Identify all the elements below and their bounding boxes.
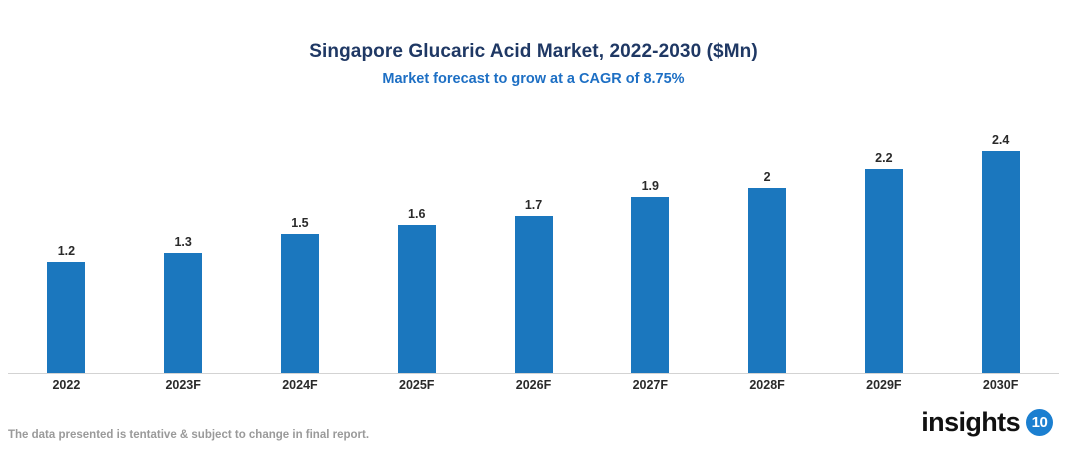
bar-group-2026F[interactable]: 1.7 bbox=[475, 110, 592, 373]
bar-rect[interactable] bbox=[982, 151, 1020, 373]
bar-group-2028F[interactable]: 2 bbox=[709, 110, 826, 373]
bar-value-label: 1.6 bbox=[408, 207, 425, 221]
x-axis-tick-label: 2024F bbox=[242, 377, 359, 393]
x-axis-tick-label: 2025F bbox=[358, 377, 475, 393]
title-block: Singapore Glucaric Acid Market, 2022-203… bbox=[0, 40, 1067, 89]
plot-area: 1.2 1.3 1.5 1.6 1.7 1.9 bbox=[8, 110, 1059, 374]
x-axis-tick-label: 2026F bbox=[475, 377, 592, 393]
x-axis-tick-label: 2022 bbox=[8, 377, 125, 393]
page-title: Singapore Glucaric Acid Market, 2022-203… bbox=[0, 40, 1067, 64]
page-subtitle: Market forecast to grow at a CAGR of 8.7… bbox=[0, 70, 1067, 89]
x-axis-tick-label: 2023F bbox=[125, 377, 242, 393]
x-axis-tick-label: 2027F bbox=[592, 377, 709, 393]
insights10-logo: insights 10 bbox=[921, 406, 1053, 438]
bar-group-2025F[interactable]: 1.6 bbox=[358, 110, 475, 373]
bar-group-2029F[interactable]: 2.2 bbox=[825, 110, 942, 373]
bar-rect[interactable] bbox=[748, 188, 786, 373]
bar-rect[interactable] bbox=[865, 169, 903, 373]
bar-series: 1.2 1.3 1.5 1.6 1.7 1.9 bbox=[8, 110, 1059, 373]
bar-rect[interactable] bbox=[515, 216, 553, 373]
x-axis-tick-label: 2029F bbox=[825, 377, 942, 393]
bar-rect[interactable] bbox=[164, 253, 202, 373]
bar-group-2022[interactable]: 1.2 bbox=[8, 110, 125, 373]
logo-wordmark: insights bbox=[921, 409, 1020, 436]
bar-value-label: 2 bbox=[764, 170, 771, 184]
bar-rect[interactable] bbox=[631, 197, 669, 373]
bar-group-2027F[interactable]: 1.9 bbox=[592, 110, 709, 373]
bar-value-label: 1.2 bbox=[58, 244, 75, 258]
chart-page: Singapore Glucaric Acid Market, 2022-203… bbox=[0, 0, 1067, 454]
bar-group-2023F[interactable]: 1.3 bbox=[125, 110, 242, 373]
bar-rect[interactable] bbox=[281, 234, 319, 373]
x-axis-tick-label: 2028F bbox=[709, 377, 826, 393]
disclaimer-text: The data presented is tentative & subjec… bbox=[8, 428, 369, 443]
bar-value-label: 2.4 bbox=[992, 133, 1009, 147]
bar-value-label: 1.7 bbox=[525, 198, 542, 212]
x-axis-line bbox=[8, 373, 1059, 374]
bar-rect[interactable] bbox=[47, 262, 85, 373]
bar-group-2024F[interactable]: 1.5 bbox=[242, 110, 359, 373]
logo-badge-icon: 10 bbox=[1026, 409, 1053, 436]
bar-value-label: 1.3 bbox=[174, 235, 191, 249]
x-axis-tick-label: 2030F bbox=[942, 377, 1059, 393]
bar-rect[interactable] bbox=[398, 225, 436, 373]
bar-group-2030F[interactable]: 2.4 bbox=[942, 110, 1059, 373]
bar-value-label: 1.5 bbox=[291, 216, 308, 230]
x-axis-labels: 2022 2023F 2024F 2025F 2026F 2027F 2028F… bbox=[8, 377, 1059, 393]
bar-value-label: 1.9 bbox=[642, 179, 659, 193]
bar-value-label: 2.2 bbox=[875, 151, 892, 165]
